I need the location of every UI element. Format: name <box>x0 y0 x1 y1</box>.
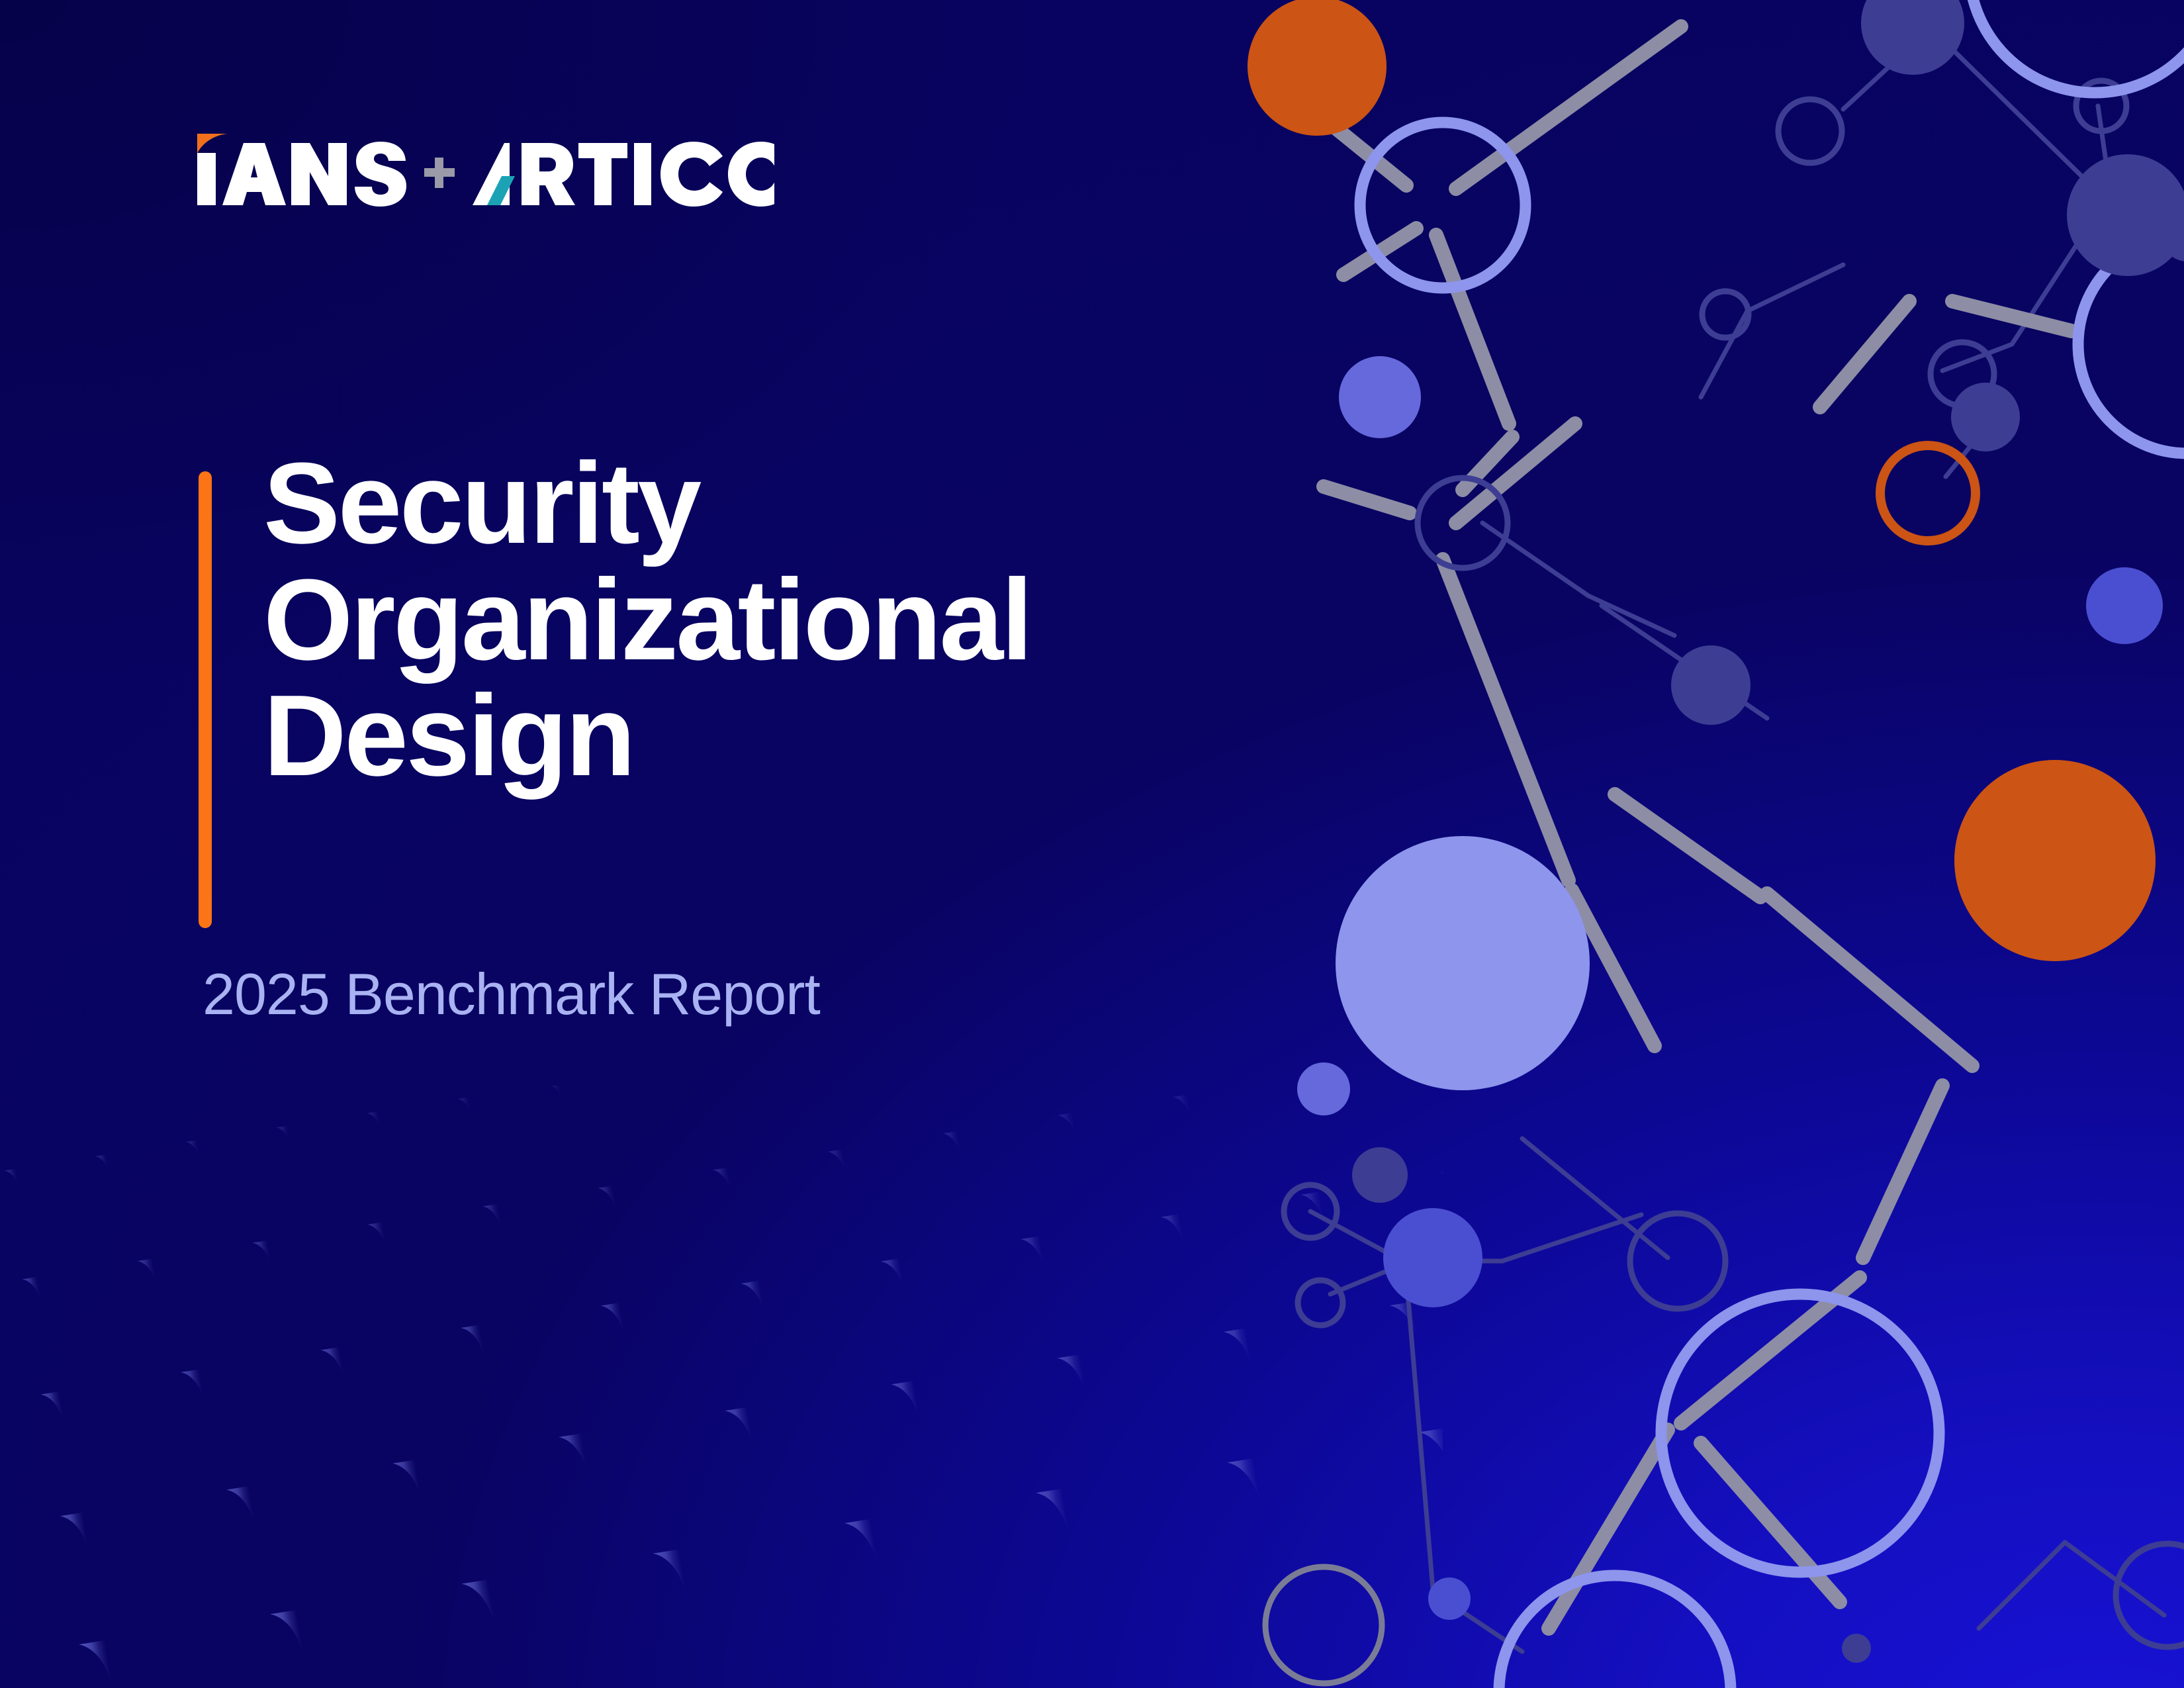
artico-logo-tail-icon <box>655 130 774 207</box>
page-subtitle: 2025 Benchmark Report <box>203 965 820 1023</box>
title-block: Security Organizational Design <box>263 445 1455 794</box>
report-cover: Security Organizational Design 2025 Benc… <box>0 0 2184 1688</box>
orange-accent-bar <box>199 471 212 928</box>
background-gradient-overlay <box>0 0 2184 1688</box>
plus-symbol-icon <box>424 158 455 188</box>
ians-fin-accent <box>197 134 228 154</box>
ians-artico-logo-icon <box>196 130 659 207</box>
page-title: Security Organizational Design <box>263 445 1455 794</box>
logo-lockup[interactable] <box>196 130 774 207</box>
